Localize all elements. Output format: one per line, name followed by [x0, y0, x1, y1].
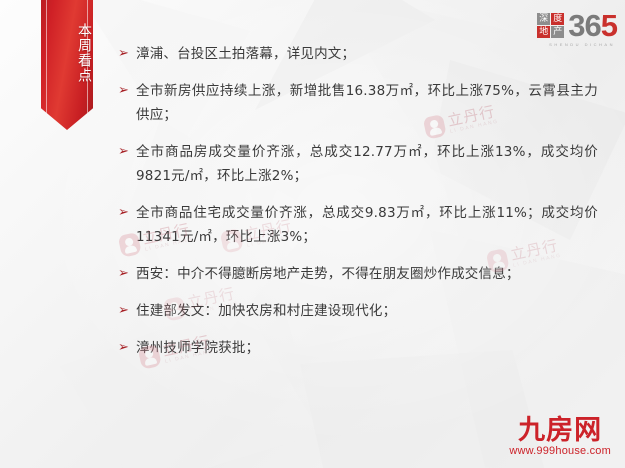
arrow-bullet-icon: ➢ [118, 262, 136, 286]
list-item-text: 漳浦、台投区土拍落幕，详见内文； [136, 42, 598, 66]
site-logo-url: www.999house.com [509, 445, 611, 458]
list-item: ➢ 全市商品房成交量价齐涨，总成交12.77万㎡，环比上涨13%，成交均价982… [118, 140, 598, 188]
site-logo-name: 九房网 [509, 416, 611, 445]
brand-365: 365 [568, 10, 617, 41]
arrow-bullet-icon: ➢ [118, 299, 136, 323]
arrow-bullet-icon: ➢ [118, 201, 136, 225]
brand-char-3: 地 [537, 26, 550, 38]
list-item: ➢ 全市新房供应持续上涨，新增批售16.38万㎡，环比上涨75%，云霄县主力供应… [118, 79, 598, 127]
brand-365-red: 5 [601, 8, 617, 43]
list-item-text: 全市商品房成交量价齐涨，总成交12.77万㎡，环比上涨13%，成交均价9821元… [136, 140, 598, 188]
list-item-text: 全市新房供应持续上涨，新增批售16.38万㎡，环比上涨75%，云霄县主力供应； [136, 79, 598, 127]
site-logo: 九房网 www.999house.com [509, 416, 611, 458]
arrow-bullet-icon: ➢ [118, 42, 136, 66]
slide-canvas: 本周看点 深 度 地 产 365 SHENDU DICHAN ➢ 漳浦、台投区土… [0, 0, 625, 468]
brand-char-4: 产 [551, 26, 564, 38]
list-item-text: 漳州技师学院获批； [136, 336, 598, 360]
brand-logo-box: 深 度 地 产 [537, 13, 564, 38]
brand-char-1: 深 [537, 13, 550, 25]
list-item: ➢ 住建部发文：加快农房和村庄建设现代化； [118, 299, 598, 323]
arrow-bullet-icon: ➢ [118, 140, 136, 164]
list-item: ➢ 漳州技师学院获批； [118, 336, 598, 360]
headline-list: ➢ 漳浦、台投区土拍落幕，详见内文； ➢ 全市新房供应持续上涨，新增批售16.3… [118, 42, 598, 373]
list-item-text: 全市商品住宅成交量价齐涨，总成交9.83万㎡，环比上涨11%；成交均价11341… [136, 201, 598, 249]
section-ribbon: 本周看点 [41, 0, 93, 130]
list-item-text: 西安：中介不得臆断房地产走势，不得在朋友圈炒作成交信息； [136, 262, 598, 286]
list-item: ➢ 漳浦、台投区土拍落幕，详见内文； [118, 42, 598, 66]
arrow-bullet-icon: ➢ [118, 336, 136, 360]
ribbon-title: 本周看点 [41, 10, 93, 96]
arrow-bullet-icon: ➢ [118, 79, 136, 103]
brand-logo: 深 度 地 产 365 SHENDU DICHAN [537, 10, 617, 41]
brand-365-gray: 36 [568, 8, 600, 43]
list-item: ➢ 西安：中介不得臆断房地产走势，不得在朋友圈炒作成交信息； [118, 262, 598, 286]
list-item-text: 住建部发文：加快农房和村庄建设现代化； [136, 299, 598, 323]
brand-char-2: 度 [551, 13, 564, 25]
list-item: ➢ 全市商品住宅成交量价齐涨，总成交9.83万㎡，环比上涨11%；成交均价113… [118, 201, 598, 249]
